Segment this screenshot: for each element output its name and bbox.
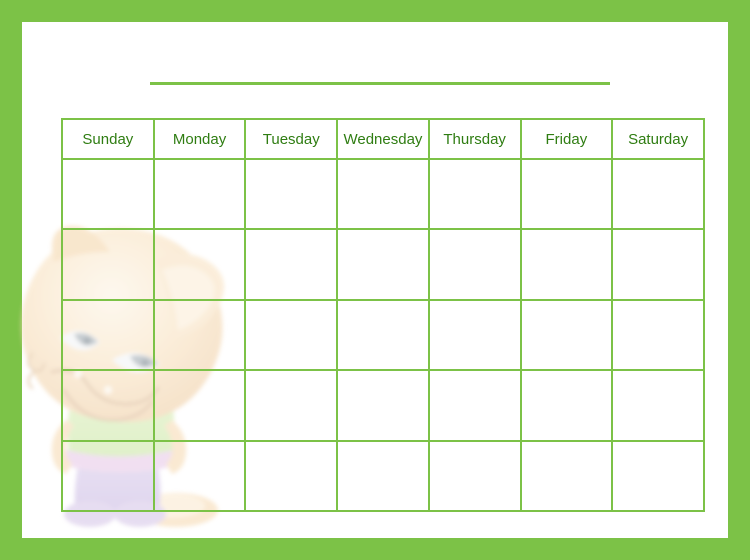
weekday-header-monday: Monday: [154, 119, 246, 159]
calendar-week-row: [62, 441, 704, 511]
calendar-day-cell[interactable]: [429, 441, 521, 511]
calendar-day-cell[interactable]: [154, 441, 246, 511]
calendar-day-cell[interactable]: [612, 300, 704, 370]
calendar-day-content: [338, 371, 428, 375]
calendar-week-row: [62, 370, 704, 440]
calendar-day-cell[interactable]: [62, 159, 154, 229]
calendar-day-content: [522, 301, 612, 305]
calendar-day-content: [430, 160, 520, 164]
calendar-day-cell[interactable]: [154, 370, 246, 440]
calendar-day-cell[interactable]: [337, 441, 429, 511]
calendar-day-cell[interactable]: [429, 229, 521, 299]
calendar-day-content: [63, 230, 153, 234]
calendar-week-row: [62, 300, 704, 370]
calendar-day-content: [338, 230, 428, 234]
calendar-day-cell[interactable]: [245, 229, 337, 299]
calendar-day-content: [613, 160, 703, 164]
calendar-day-cell[interactable]: [154, 300, 246, 370]
weekday-header-thursday: Thursday: [429, 119, 521, 159]
calendar-day-cell[interactable]: [337, 370, 429, 440]
calendar-day-content: [613, 230, 703, 234]
calendar-day-content: [338, 160, 428, 164]
calendar-day-content: [430, 301, 520, 305]
calendar-day-cell[interactable]: [521, 441, 613, 511]
calendar-day-content: [613, 371, 703, 375]
calendar-day-content: [246, 230, 336, 234]
calendar-day-content: [63, 371, 153, 375]
calendar-day-cell[interactable]: [62, 370, 154, 440]
calendar-day-cell[interactable]: [245, 159, 337, 229]
calendar-day-content: [155, 160, 245, 164]
calendar-day-cell[interactable]: [521, 370, 613, 440]
calendar-day-cell[interactable]: [612, 370, 704, 440]
calendar-day-content: [522, 230, 612, 234]
calendar-day-cell[interactable]: [62, 229, 154, 299]
calendar-day-content: [246, 301, 336, 305]
calendar-day-cell[interactable]: [612, 159, 704, 229]
calendar-day-content: [613, 442, 703, 446]
weekday-header-sunday: Sunday: [62, 119, 154, 159]
calendar-day-content: [613, 301, 703, 305]
weekday-header-saturday: Saturday: [612, 119, 704, 159]
calendar-day-cell[interactable]: [62, 441, 154, 511]
calendar-day-cell[interactable]: [521, 159, 613, 229]
calendar-day-content: [155, 301, 245, 305]
calendar-day-cell[interactable]: [337, 300, 429, 370]
calendar-week-row: [62, 229, 704, 299]
calendar-day-content: [430, 371, 520, 375]
calendar-day-cell[interactable]: [245, 370, 337, 440]
calendar-day-cell[interactable]: [154, 159, 246, 229]
weekday-header-friday: Friday: [521, 119, 613, 159]
calendar-day-content: [155, 442, 245, 446]
calendar-week-row: [62, 159, 704, 229]
weekday-header-wednesday: Wednesday: [337, 119, 429, 159]
calendar-page: Sunday Monday Tuesday Wednesday Thursday…: [0, 0, 750, 560]
calendar-day-cell[interactable]: [337, 159, 429, 229]
calendar-grid: Sunday Monday Tuesday Wednesday Thursday…: [61, 118, 705, 512]
weekday-header-tuesday: Tuesday: [245, 119, 337, 159]
calendar-day-cell[interactable]: [521, 229, 613, 299]
calendar-day-content: [522, 371, 612, 375]
calendar-day-content: [522, 160, 612, 164]
calendar-day-content: [155, 230, 245, 234]
calendar-day-cell[interactable]: [612, 441, 704, 511]
calendar-title[interactable]: [150, 52, 610, 80]
calendar-day-cell[interactable]: [245, 441, 337, 511]
calendar-day-cell[interactable]: [429, 300, 521, 370]
calendar-day-cell[interactable]: [429, 159, 521, 229]
calendar-day-cell[interactable]: [245, 300, 337, 370]
calendar-day-cell[interactable]: [62, 300, 154, 370]
calendar-day-content: [430, 442, 520, 446]
weekday-header-row: Sunday Monday Tuesday Wednesday Thursday…: [62, 119, 704, 159]
calendar-day-content: [522, 442, 612, 446]
calendar-day-content: [63, 160, 153, 164]
calendar-day-cell[interactable]: [521, 300, 613, 370]
calendar-day-content: [246, 160, 336, 164]
calendar-day-content: [246, 371, 336, 375]
calendar-day-content: [338, 442, 428, 446]
title-underline-rule: [150, 82, 610, 85]
calendar-day-content: [63, 301, 153, 305]
calendar-day-content: [246, 442, 336, 446]
calendar-day-cell[interactable]: [154, 229, 246, 299]
calendar-day-content: [155, 371, 245, 375]
calendar-day-content: [63, 442, 153, 446]
calendar-day-cell[interactable]: [429, 370, 521, 440]
calendar-day-cell[interactable]: [337, 229, 429, 299]
calendar-day-content: [430, 230, 520, 234]
calendar-day-content: [338, 301, 428, 305]
calendar-day-cell[interactable]: [612, 229, 704, 299]
